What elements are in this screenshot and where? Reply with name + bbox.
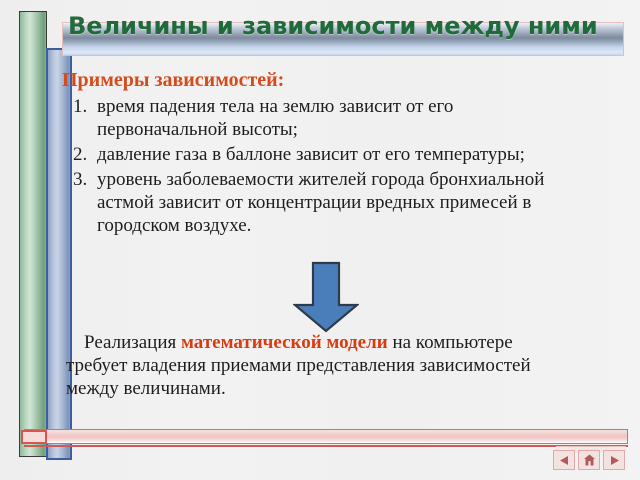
list-item: уровень заболеваемости жителей города бр… <box>92 168 582 237</box>
triangle-left-icon <box>559 455 570 466</box>
down-arrow-icon <box>293 261 359 333</box>
home-icon <box>583 454 596 466</box>
decoration-green-bar <box>19 11 47 457</box>
bottom-divider-line <box>24 445 628 447</box>
conclusion-highlight: математической модели <box>181 332 388 353</box>
triangle-right-icon <box>609 455 620 466</box>
list-item: давление газа в баллоне зависит от его т… <box>92 143 582 166</box>
slide-canvas: Величины и зависимости между ними Пример… <box>0 0 640 480</box>
previous-slide-button[interactable] <box>553 450 575 470</box>
decoration-red-box <box>21 430 47 444</box>
next-slide-button[interactable] <box>603 450 625 470</box>
conclusion-paragraph: Реализация математической модели на комп… <box>66 331 566 400</box>
examples-list: время падения тела на землю зависит от е… <box>62 95 582 237</box>
examples-heading: Примеры зависимостей: <box>62 68 582 92</box>
content-block: Примеры зависимостей: время падения тела… <box>62 68 582 239</box>
home-slide-button[interactable] <box>578 450 600 470</box>
list-item: время падения тела на землю зависит от е… <box>92 95 582 141</box>
page-title: Величины и зависимости между ними <box>68 12 628 41</box>
conclusion-text-before: Реализация <box>84 332 181 353</box>
navigation-bar <box>553 450 625 470</box>
bottom-divider <box>24 429 628 444</box>
